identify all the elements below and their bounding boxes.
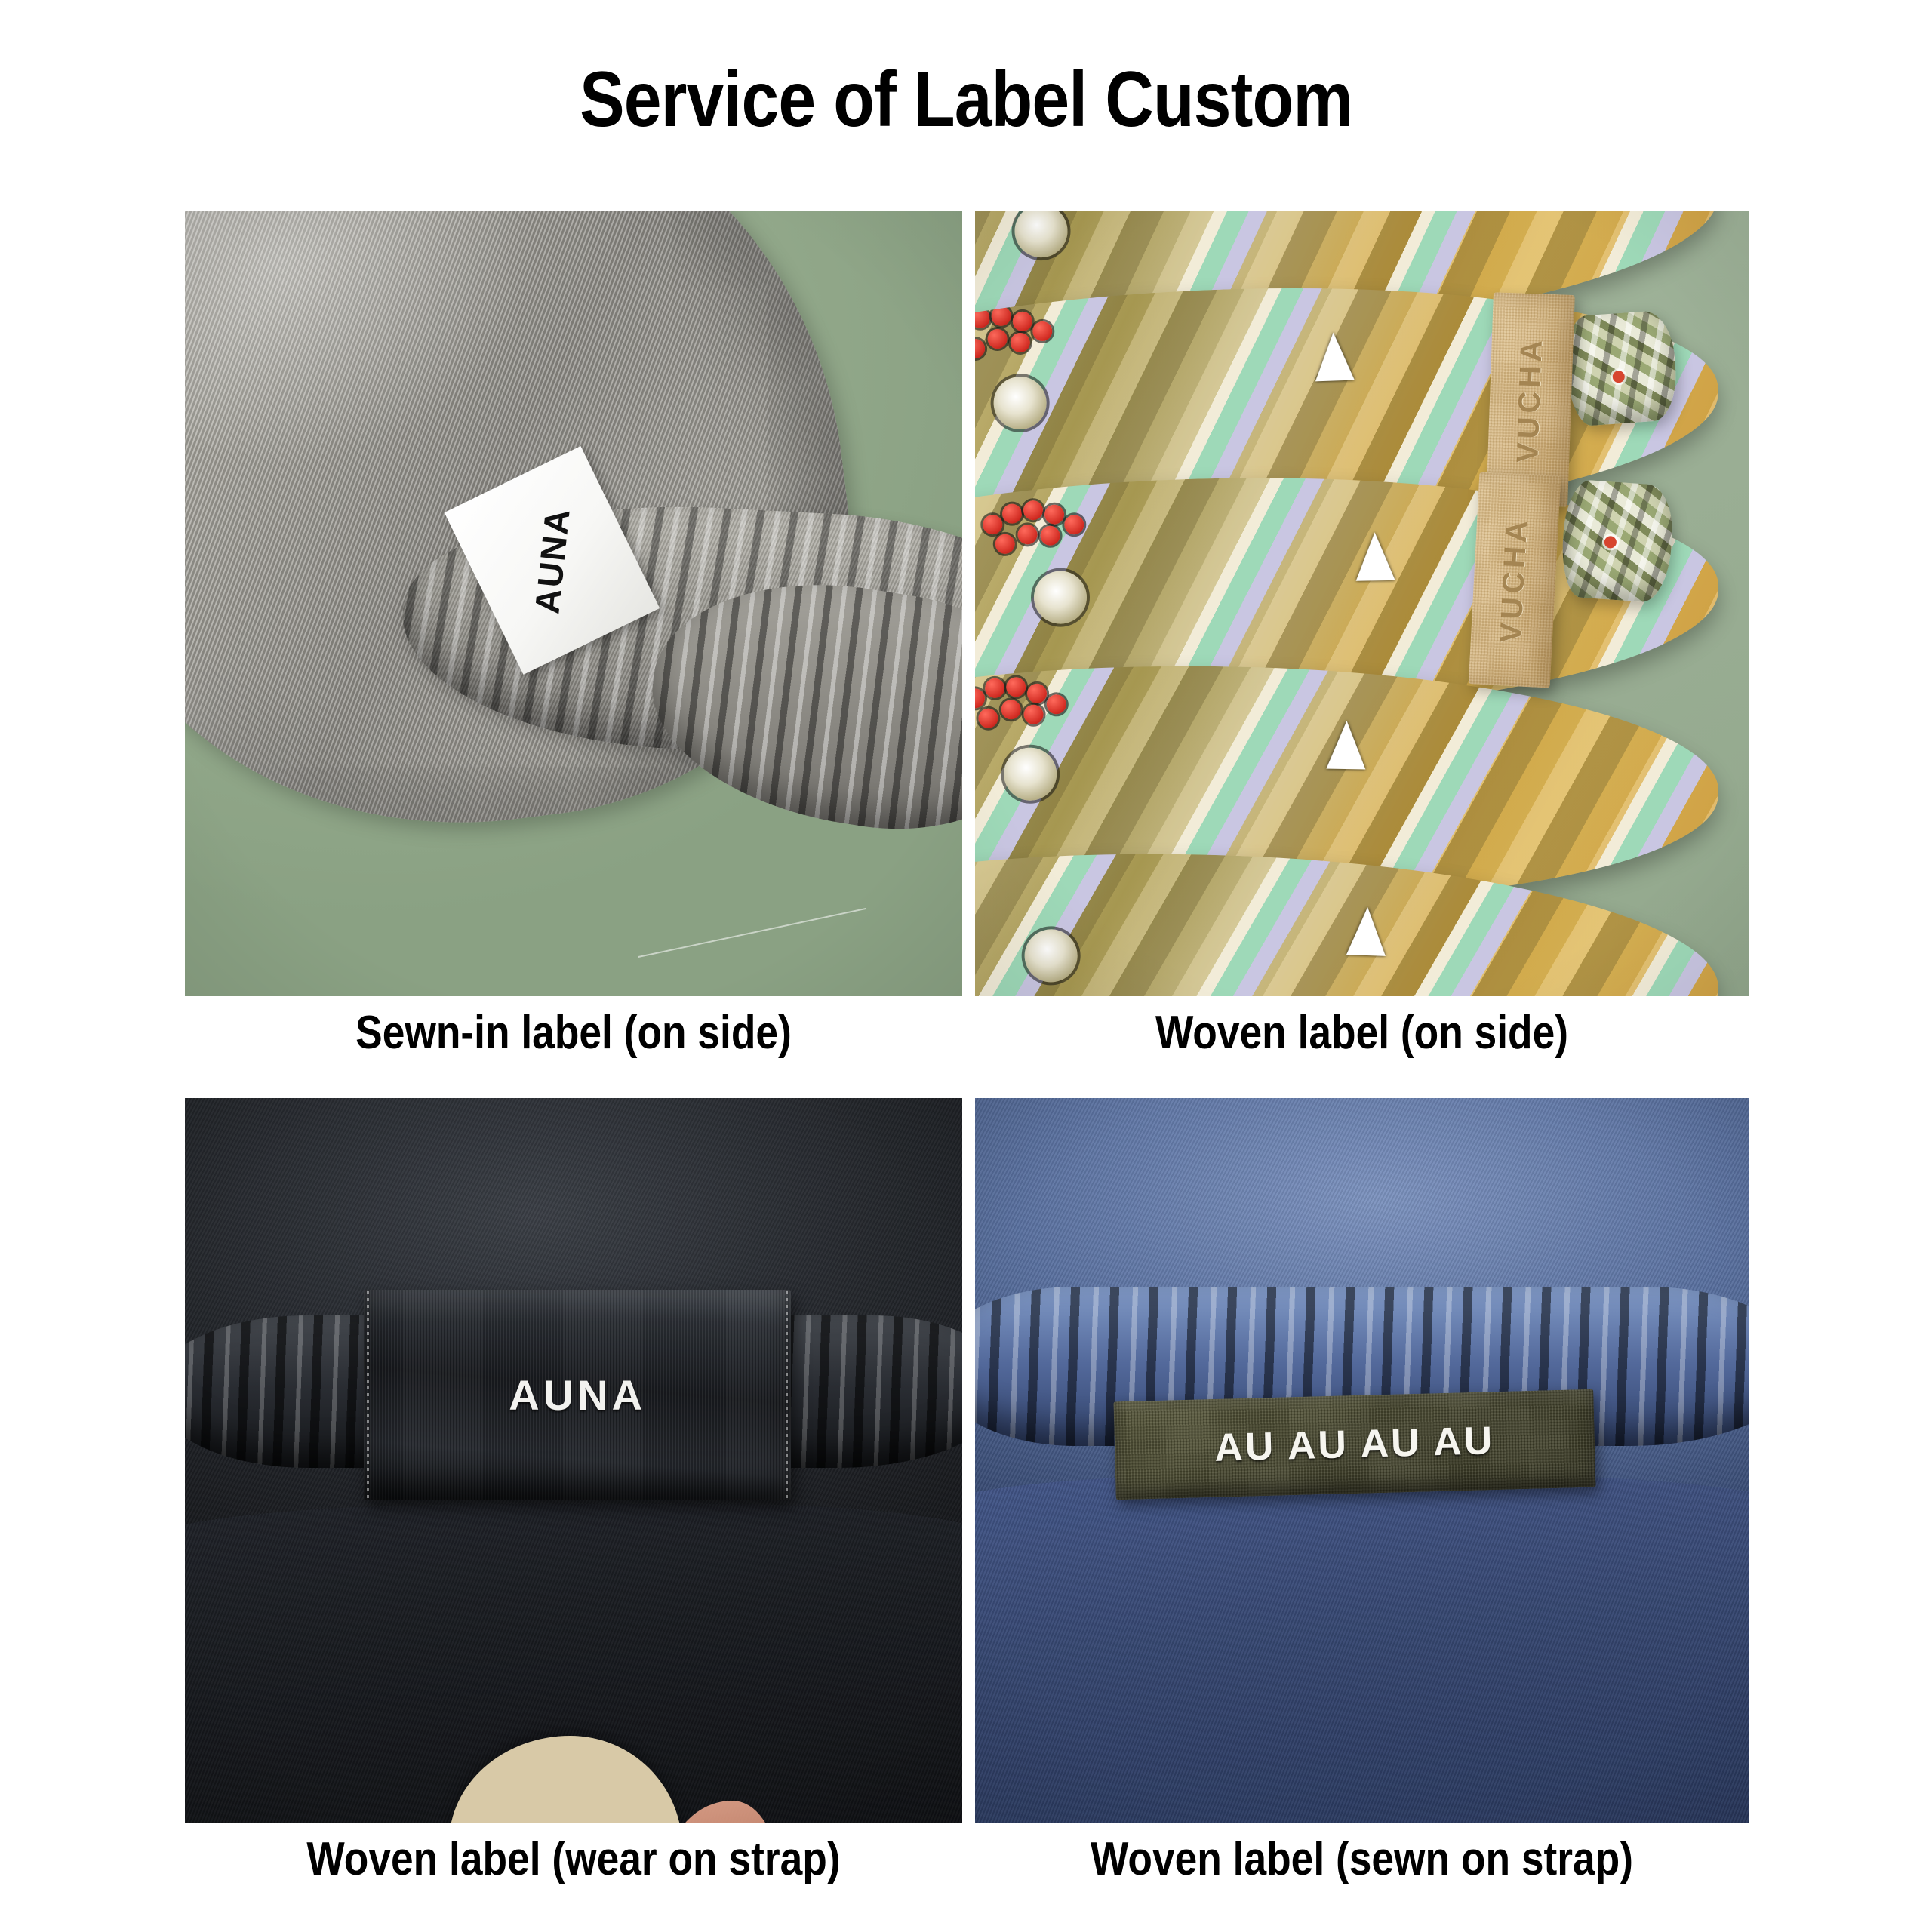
scarf-motif-gem [1023,928,1078,983]
panel-caption: Sewn-in label (on side) [214,1005,934,1061]
scarf-motif-berries [975,304,1066,391]
brand-mark: AUNA [509,1371,646,1420]
woven-label: VUCHA [1469,472,1561,688]
scarf-motif-triangle [1326,720,1366,769]
brand-mark: VUCHA [1511,336,1549,463]
photo-woven-label-wear-on-strap: AUNA [185,1098,962,1823]
photo-woven-label-on-side: VUCHA VUCHA [975,211,1749,996]
page-title: Service of Label Custom [135,54,1797,145]
panel-caption: Woven label (on side) [1003,1005,1720,1061]
scarf-motif-triangle [1313,332,1354,382]
panel-woven-label-wear-on-strap[interactable]: AUNA Woven label (wear on strap) [185,1098,962,1823]
infographic-page: Service of Label Custom AUNA Sewn-in lab… [0,0,1932,1932]
photo-woven-label-sewn-on-strap: AU AU AU AU [975,1098,1749,1823]
panel-grid: AUNA Sewn-in label (on side) [185,211,1749,1872]
panel-woven-label-on-side[interactable]: VUCHA VUCHA Woven label (on side) [975,211,1749,996]
scarf-motif-berries [982,499,1097,584]
scarf-motif-berries [975,676,1078,761]
brand-mark: AU AU AU AU [1214,1418,1494,1471]
brand-mark: VUCHA [1494,516,1535,644]
patterned-scrunchie [1563,309,1678,426]
photo-sewn-in-label-on-side: AUNA [185,211,962,996]
scarf-motif-triangle [1355,531,1395,580]
woven-loop-label: AUNA [364,1290,792,1500]
panel-caption: Woven label (wear on strap) [214,1832,934,1887]
panel-sewn-in-label-on-side[interactable]: AUNA Sewn-in label (on side) [185,211,962,996]
scarf-motif-gem [1013,211,1069,259]
brand-mark: AUNA [526,506,577,616]
blue-satin-fabric [975,1475,1749,1823]
patterned-scrunchie [1559,478,1675,604]
panel-woven-label-sewn-on-strap[interactable]: AU AU AU AU Woven label (sewn on strap) [975,1098,1749,1823]
woven-sewn-label: AU AU AU AU [1113,1389,1595,1499]
panel-caption: Woven label (sewn on strap) [1003,1832,1720,1887]
scarf-motif-triangle [1346,906,1387,956]
